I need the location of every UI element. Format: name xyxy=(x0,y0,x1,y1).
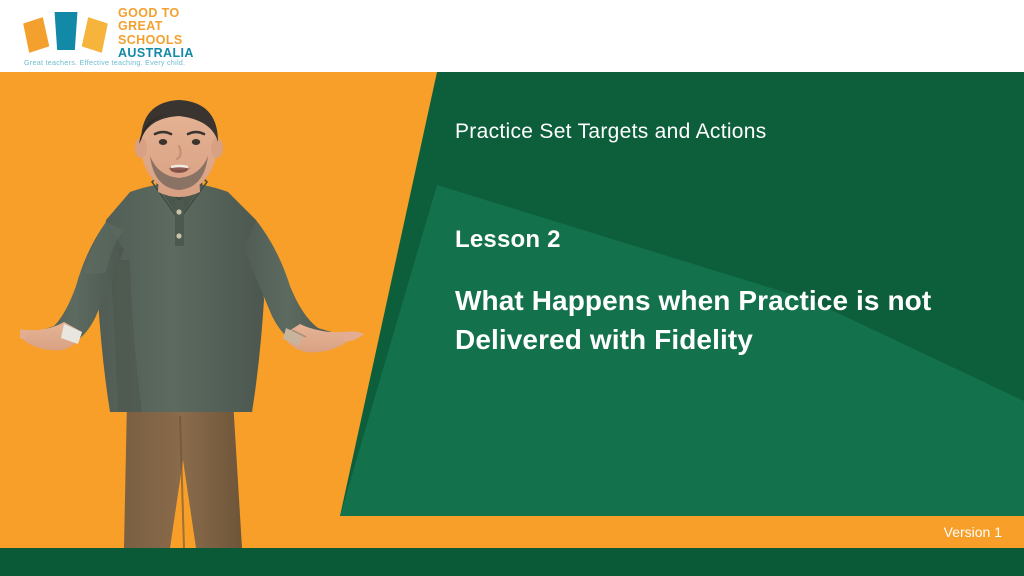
brand-logo: GOOD TO GREAT SCHOOLS AUSTRALIA Great te… xyxy=(22,2,212,72)
version-label: Version 1 xyxy=(944,524,1002,540)
logo-line-3: SCHOOLS xyxy=(118,34,194,47)
presentation-slide: Practice Set Targets and Actions Lesson … xyxy=(0,0,1024,576)
logo-mark-icon xyxy=(22,6,110,52)
logo-tagline: Great teachers. Effective teaching. Ever… xyxy=(24,58,185,67)
header-band: GOOD TO GREAT SCHOOLS AUSTRALIA Great te… xyxy=(0,0,1024,72)
presenter-illustration xyxy=(20,100,400,548)
slide-text-block: Practice Set Targets and Actions Lesson … xyxy=(455,118,1000,360)
page-title: What Happens when Practice is not Delive… xyxy=(455,254,970,359)
slide-eyebrow: Practice Set Targets and Actions xyxy=(455,118,1000,145)
logo-line-2: GREAT xyxy=(118,20,194,33)
presenter-photo xyxy=(20,100,400,548)
footer-bar xyxy=(0,548,1024,576)
lesson-label: Lesson 2 xyxy=(455,145,1000,254)
logo-shape-right-icon xyxy=(79,17,111,53)
logo-shape-center-icon xyxy=(53,12,79,50)
logo-shape-left-icon xyxy=(20,17,52,53)
logo-line-1: GOOD TO xyxy=(118,7,194,20)
logo-wordmark: GOOD TO GREAT SCHOOLS AUSTRALIA xyxy=(118,7,194,60)
